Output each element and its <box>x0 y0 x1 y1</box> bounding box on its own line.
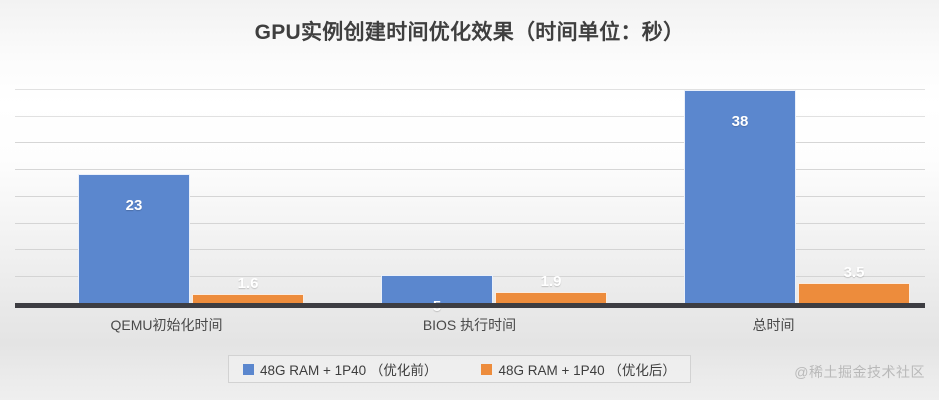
bar-value-label: 3.5 <box>799 264 909 281</box>
bar-after: 3.5 <box>798 283 910 303</box>
legend-item-after[interactable]: 48G RAM + 1P40 （优化后） <box>481 359 675 379</box>
category-label: 总时间 <box>622 315 925 335</box>
bar-value-label: 23 <box>79 197 189 214</box>
watermark-text: @稀土掘金技术社区 <box>794 362 925 382</box>
bar-before: 5 <box>381 275 493 303</box>
category-label: QEMU初始化时间 <box>15 315 318 335</box>
bar-before: 23 <box>78 174 190 303</box>
chart-title: GPU实例创建时间优化效果（时间单位：秒） <box>0 16 939 46</box>
chart-container: GPU实例创建时间优化效果（时间单位：秒） 231.651.9383.5 QEM… <box>0 0 939 400</box>
x-axis-baseline <box>15 303 925 308</box>
legend-swatch-icon <box>243 364 254 375</box>
bar-value-label: 1.9 <box>496 273 606 290</box>
bar-after: 1.9 <box>495 292 607 303</box>
category-label: BIOS 执行时间 <box>318 315 621 335</box>
legend-label: 48G RAM + 1P40 （优化后） <box>498 359 675 379</box>
bar-value-label: 38 <box>685 113 795 130</box>
bar-value-label: 1.6 <box>193 275 303 292</box>
bar-after: 1.6 <box>192 294 304 303</box>
bar-before: 38 <box>684 90 796 303</box>
legend-label: 48G RAM + 1P40 （优化前） <box>260 359 437 379</box>
legend-item-before[interactable]: 48G RAM + 1P40 （优化前） <box>243 359 437 379</box>
legend-swatch-icon <box>481 364 492 375</box>
chart-legend: 48G RAM + 1P40 （优化前）48G RAM + 1P40 （优化后） <box>228 355 691 383</box>
plot-area: 231.651.9383.5 <box>15 62 925 303</box>
